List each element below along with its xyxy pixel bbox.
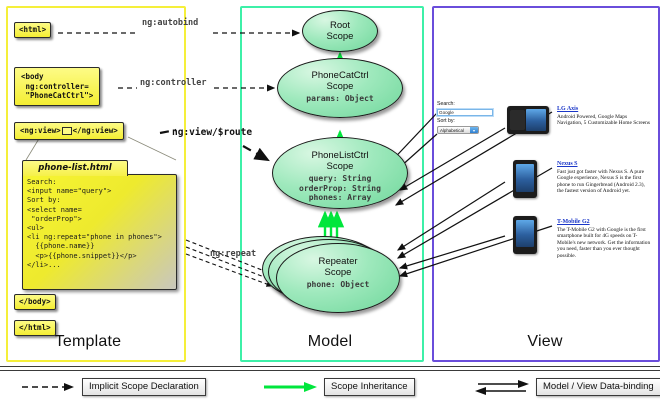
list-item: T-Mobile G2 The T-Mobile G2 with Google … [557,219,652,259]
scope-repeater-props: phone: Object [277,280,399,290]
code-box-body-open: <body ng:controller= "PhoneCatCtrl"> [14,67,100,106]
phone-name-link[interactable]: T-Mobile G2 [557,219,652,225]
phone-thumbnail-lg-axis [507,106,549,134]
phone-thumbnail-t-mobile-g2 [513,216,537,254]
legend-label-implicit-scope: Implicit Scope Declaration [82,378,206,396]
green-arrow-icon [262,381,318,393]
sort-label: Sort by: [437,118,495,125]
phone-snippet: Android Powered, Google Maps Navigation,… [557,114,652,127]
phone-thumbnail-nexus-s [513,160,537,198]
edge-label-ng-controller: ng:controller [140,78,207,88]
ng-view-close-tag: </ng:view> [73,126,118,135]
legend-item-scope-inheritance: Scope Inheritance [262,378,415,396]
edge-label-ng-repeat: ng:repeat [210,249,256,259]
scope-phonecatctrl-name: PhoneCatCtrl Scope [278,70,402,92]
list-item: Nexus S Fast just got faster with Nexus … [557,161,652,195]
search-input[interactable] [437,109,493,116]
scope-phonelistctrl-name: PhoneListCtrl Scope [273,150,407,172]
sort-select-value: Alphabetical [440,128,464,133]
panel-title-view: View [527,333,562,351]
code-box-html-open: <html> [14,22,51,38]
edge-label-ng-autobind: ng:autobind [142,18,198,28]
legend-label-scope-inheritance: Scope Inheritance [324,378,415,396]
phone-screen [516,220,534,247]
double-arrow-icon [474,379,530,395]
chevron-down-icon: ▾ [470,127,478,133]
scope-phonelistctrl: PhoneListCtrl Scope query: String orderP… [272,137,408,209]
legend-divider [0,366,660,371]
sort-select[interactable]: Alphabetical ▾ [437,126,479,134]
scope-phonecatctrl-props: params: Object [278,94,402,104]
scope-phonecatctrl: PhoneCatCtrl Scope params: Object [277,58,403,118]
view-search-controls: Search: Sort by: Alphabetical ▾ [437,101,495,134]
ng-view-open-tag: <ng:view> [20,126,61,135]
dashed-arrow-icon [20,381,76,393]
diagram-canvas: <html> <body ng:controller= "PhoneCatCtr… [0,0,660,405]
phone-snippet: Fast just got faster with Nexus S. A pur… [557,169,652,195]
callout-filename-tab: phone-list.html [22,160,128,176]
scope-repeater-name: Repeater Scope [277,256,399,278]
legend: Implicit Scope Declaration Scope Inherit… [0,370,660,405]
search-label: Search: [437,101,495,108]
phone-name-link[interactable]: LG Axis [557,106,652,112]
panel-title-model: Model [308,333,353,351]
legend-item-data-binding: Model / View Data-binding [474,378,660,396]
code-box-body-close: </body> [14,294,56,310]
code-box-html-close: </html> [14,320,56,336]
phone-screen [526,109,546,131]
ng-view-slot-icon [62,127,72,135]
legend-item-implicit-scope: Implicit Scope Declaration [20,378,206,396]
phone-snippet: The T-Mobile G2 with Google is the first… [557,227,652,259]
phone-screen [516,164,534,192]
list-item: LG Axis Android Powered, Google Maps Nav… [557,106,652,127]
callout-code: Search: <input name="query"> Sort by: <s… [22,174,177,290]
code-box-ng-view: <ng:view></ng:view> [14,122,124,140]
edge-label-ng-view-route: ng:view/$route [172,127,252,138]
legend-label-data-binding: Model / View Data-binding [536,378,660,396]
panel-title-template: Template [55,333,122,351]
scope-phonelistctrl-props: query: String orderProp: String phones: … [273,174,407,203]
scope-root-name: Root Scope [303,20,377,42]
phone-name-link[interactable]: Nexus S [557,161,652,167]
scope-root: Root Scope [302,10,378,52]
keyboard-icon [510,110,525,130]
scope-repeater: Repeater Scope phone: Object [276,243,400,313]
